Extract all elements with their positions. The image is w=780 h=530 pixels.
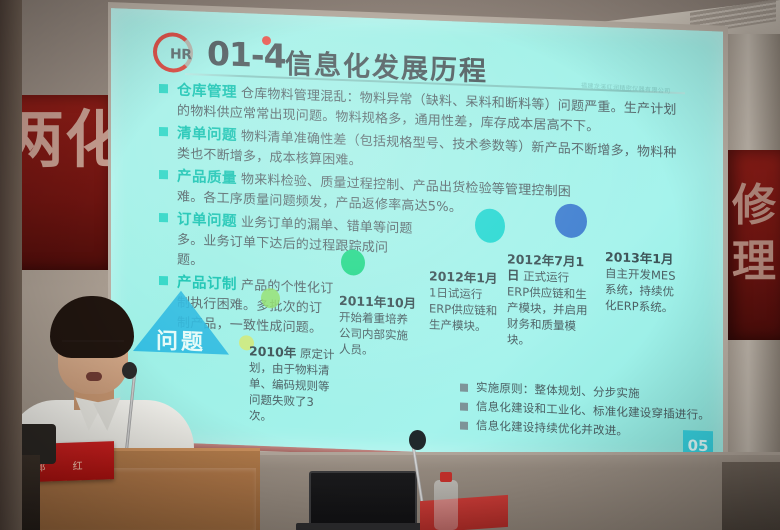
collar-right: [93, 397, 127, 432]
problem-bullet-list: 仓库管理仓库物料管理混乱：物料异常（缺料、呆料和断料等）问题严重。生产计划的物料…: [159, 78, 679, 353]
laptop-base: [296, 523, 424, 530]
decor-circle-lightgreen: [261, 288, 280, 309]
bullet-square-icon: [460, 384, 468, 392]
timeline-date: 2013年1月: [605, 249, 674, 267]
presenter-mouth: [86, 372, 102, 381]
bullet-square-icon: [159, 276, 168, 285]
title-dot-icon: [262, 36, 271, 45]
table-microphone-head: [409, 430, 426, 450]
banner-right-text: 修理: [728, 150, 780, 290]
timeline-text: 自主开发MES系统，持续优化ERP系统。: [605, 266, 676, 315]
bullet-square-icon: [159, 170, 168, 179]
left-pillar: [0, 0, 22, 530]
bullet-head: 仓库管理: [177, 83, 237, 101]
bullet-square-icon: [159, 127, 168, 136]
slide-canvas: HR 01-4 信息化发展历程 福建龙溪红润精密仪器有限公司 仓库管理仓库物料管…: [111, 8, 723, 464]
timeline-entry-2011: 2011年10月 开始着重培养公司内部实施人员。: [339, 293, 419, 360]
timeline-entry-2012-01: 2012年1月 1日试运行ERP供应链和生产模块。: [429, 268, 501, 335]
principle-text: 实施原则：整体规划、分步实施: [476, 380, 640, 400]
slide-title-number: 01-4: [207, 34, 286, 76]
hr-logo-icon: HR: [153, 32, 193, 74]
banner-right: 修理: [728, 150, 780, 340]
bullet-square-icon: [460, 403, 468, 411]
bullet-item: 订单问题业务订单的漏单、错单等问题多。业务订单下达后的过程跟踪成问题。: [159, 207, 414, 278]
water-bottle: [434, 480, 458, 530]
timeline-date: 2012年1月: [429, 268, 498, 286]
glasses-icon: [62, 340, 124, 354]
timeline-text: 1日试运行ERP供应链和生产模块。: [429, 285, 497, 333]
decor-circle-green: [341, 249, 365, 276]
decor-circle-blue: [555, 203, 587, 238]
bullet-head: 产品质量: [177, 169, 237, 187]
microphone-head: [122, 362, 137, 379]
principles-list: 实施原则：整体规划、分步实施 信息化建设和工业化、标准化建设穿插进行。 信息化建…: [459, 380, 721, 447]
laptop-screen: [309, 471, 417, 527]
timeline-date: 2011年10月: [339, 293, 416, 311]
bullet-head: 订单问题: [177, 212, 237, 230]
timeline-text: 开始着重培养公司内部实施人员。: [339, 310, 408, 357]
bullet-square-icon: [460, 422, 468, 430]
projection-screen: HR 01-4 信息化发展历程 福建龙溪红润精密仪器有限公司 仓库管理仓库物料管…: [108, 2, 728, 478]
bullet-square-icon: [159, 84, 168, 93]
timeline-entry-2012-07: 2012年7月1日 正式运行ERP供应链和生产模块，并启用财务和质量模块。: [507, 251, 589, 350]
timeline-entry-2010: 2010年 原定计划，由于物料清单、编码规则等问题失败了3次。: [249, 343, 335, 426]
timeline-entry-2013: 2013年1月 自主开发MES系统，持续优化ERP系统。: [605, 249, 681, 316]
timeline-date: 2010年: [249, 343, 296, 360]
photo-scene: 两化融 修理 HR 01-4 信息化发展历程 福建龙溪红润精密仪器有限公司 仓: [0, 0, 780, 530]
water-bottle-cap: [440, 472, 452, 482]
timeline-text: 正式运行ERP供应链和生产模块，并启用财务和质量模块。: [507, 269, 588, 347]
right-corner-furniture: [722, 462, 780, 530]
principle-text: 信息化建设持续优化并改进。: [476, 418, 628, 438]
decor-circle-cyan: [475, 208, 505, 243]
hr-logo-text: HR: [170, 46, 192, 63]
bullet-head: 清单问题: [177, 126, 237, 144]
bullet-square-icon: [159, 213, 168, 222]
